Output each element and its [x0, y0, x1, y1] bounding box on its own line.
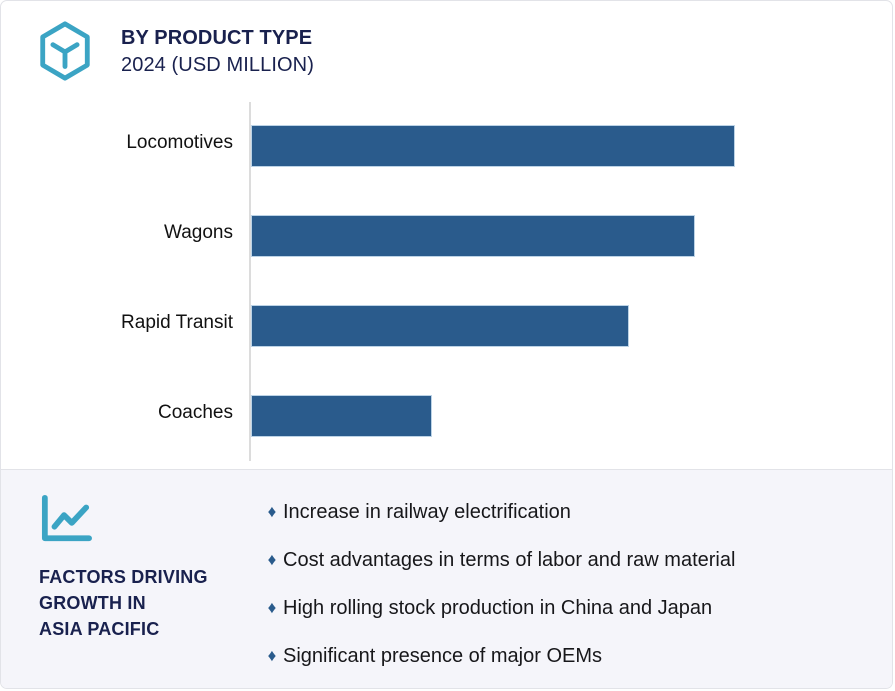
hexagon-product-icon — [34, 20, 96, 82]
list-item-label: Cost advantages in terms of labor and ra… — [283, 546, 735, 574]
bar-label-wagons: Wagons — [1, 222, 233, 244]
bar-track-coaches — [251, 395, 432, 437]
bar-wagons[interactable] — [251, 215, 695, 257]
factors-panel-left: FACTORS DRIVING GROWTH IN ASIA PACIFIC — [1, 470, 261, 688]
factors-list: ♦ Increase in railway electrification ♦ … — [261, 470, 893, 688]
bar-label-rapid-transit: Rapid Transit — [1, 312, 233, 334]
bar-label-coaches: Coaches — [1, 402, 233, 424]
chart-row-coaches: Coaches — [1, 371, 893, 461]
chart-row-rapid-transit: Rapid Transit — [1, 281, 893, 371]
list-item: ♦ Significant presence of major OEMs — [261, 642, 893, 689]
bar-label-locomotives: Locomotives — [1, 132, 233, 154]
list-item: ♦ Increase in railway electrification — [261, 498, 893, 546]
factors-heading-line-3: ASIA PACIFIC — [39, 616, 261, 642]
factors-heading-line-2: GROWTH IN — [39, 590, 261, 616]
list-item: ♦ Cost advantages in terms of labor and … — [261, 546, 893, 594]
chart-row-locomotives: Locomotives — [1, 101, 893, 191]
diamond-bullet-icon: ♦ — [261, 594, 283, 622]
bar-track-rapid-transit — [251, 305, 629, 347]
diamond-bullet-icon: ♦ — [261, 498, 283, 526]
diamond-bullet-icon: ♦ — [261, 642, 283, 670]
list-item-label: Increase in railway electrification — [283, 498, 571, 526]
bar-rapid-transit[interactable] — [251, 305, 629, 347]
header-text-block: BY PRODUCT TYPE 2024 (USD MILLION) — [121, 28, 314, 75]
list-item-label: High rolling stock production in China a… — [283, 594, 712, 622]
line-chart-icon — [39, 494, 93, 544]
chart-row-wagons: Wagons — [1, 191, 893, 281]
diamond-bullet-icon: ♦ — [261, 546, 283, 574]
factors-panel: FACTORS DRIVING GROWTH IN ASIA PACIFIC ♦… — [1, 469, 893, 688]
header: BY PRODUCT TYPE 2024 (USD MILLION) — [1, 1, 892, 101]
bar-track-wagons — [251, 215, 695, 257]
bar-coaches[interactable] — [251, 395, 432, 437]
list-item: ♦ High rolling stock production in China… — [261, 594, 893, 642]
infographic-card: BY PRODUCT TYPE 2024 (USD MILLION) Locom… — [0, 0, 893, 689]
factors-heading-line-1: FACTORS DRIVING — [39, 564, 261, 590]
page-subtitle: 2024 (USD MILLION) — [121, 55, 314, 75]
factors-panel-heading: FACTORS DRIVING GROWTH IN ASIA PACIFIC — [39, 564, 261, 642]
page-title: BY PRODUCT TYPE — [121, 28, 314, 48]
list-item-label: Significant presence of major OEMs — [283, 642, 602, 670]
bar-locomotives[interactable] — [251, 125, 735, 167]
bar-track-locomotives — [251, 125, 735, 167]
bar-chart: Locomotives Wagons Rapid Transit Coaches — [1, 101, 893, 469]
